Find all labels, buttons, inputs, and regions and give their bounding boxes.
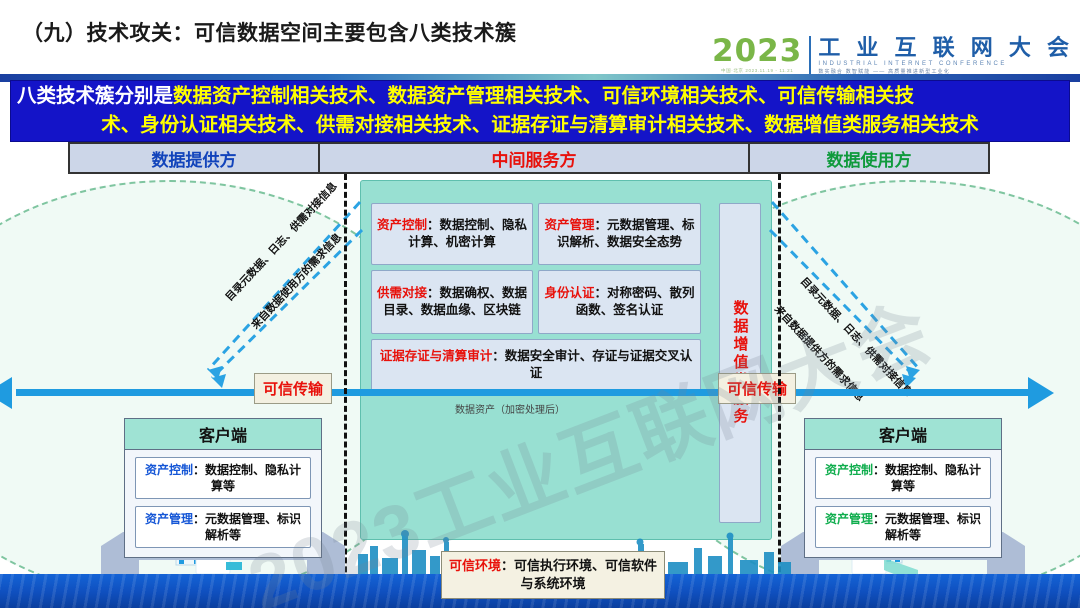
card-evidence-audit: 证据存证与清算审计：数据安全审计、存证与证据交叉认证: [371, 339, 701, 391]
role-intermediary-service: 中间服务方: [320, 144, 750, 172]
tech-cluster-cards: 资产控制：数据控制、隐私计算、机密计算 资产管理：元数据管理、标识解析、数据安全…: [371, 203, 701, 396]
trusted-environment-sep: ：: [501, 558, 514, 573]
intermediary-panel: 资产控制：数据控制、隐私计算、机密计算 资产管理：元数据管理、标识解析、数据安全…: [360, 180, 772, 540]
logo-year: 2023: [712, 36, 802, 66]
trusted-transmission-arrow-line: [16, 389, 1038, 396]
consumer-client-asset-management-value: 元数据管理、标识解析等: [885, 512, 981, 542]
card-asset-control-sep: ：: [427, 218, 440, 232]
banner-highlight-1: 数据资产控制相关技术、数据资产管理相关技术、可信环境相关技术、可信传输相关技: [173, 85, 914, 107]
roles-header: 数据提供方 中间服务方 数据使用方: [68, 142, 990, 174]
card-asset-control-key: 资产控制: [377, 218, 427, 232]
trusted-transmission-label-left: 可信传输: [254, 373, 332, 404]
provider-client-asset-control: 资产控制：数据控制、隐私计算等: [135, 457, 311, 499]
card-asset-management-sep: ：: [594, 218, 607, 232]
banner-highlight-2: 术、身份认证相关技术、供需对接相关技术、证据存证与清算审计相关技术、数据增值类服…: [101, 114, 979, 136]
provider-client-asset-management-key: 资产管理: [145, 512, 193, 526]
card-identity-auth: 身份认证：对称密码、散列函数、签名认证: [538, 270, 701, 334]
consumer-client-asset-control-value: 数据控制、隐私计算等: [885, 463, 981, 493]
trusted-transmission-arrow-head-right: [1028, 377, 1054, 409]
consumer-client-asset-control: 资产控制：数据控制、隐私计算等: [815, 457, 991, 499]
provider-client-asset-control-value: 数据控制、隐私计算等: [205, 463, 301, 493]
card-identity-auth-sep: ：: [594, 286, 607, 300]
card-evidence-audit-sep: ：: [492, 349, 505, 363]
trusted-environment-key: 可信环境: [449, 558, 501, 573]
trusted-transmission-arrow-head-left: [0, 377, 12, 409]
diagram-canvas: 资产控制：数据控制、隐私计算、机密计算 资产管理：元数据管理、标识解析、数据安全…: [0, 174, 1080, 608]
summary-banner: 八类技术簇分别是数据资产控制相关技术、数据资产管理相关技术、可信环境相关技术、可…: [10, 80, 1070, 142]
trusted-environment-box: 可信环境：可信执行环境、可信软件与系统环境: [441, 551, 665, 599]
consumer-client-asset-management: 资产管理：元数据管理、标识解析等: [815, 506, 991, 548]
role-data-provider: 数据提供方: [70, 144, 320, 172]
provider-client-asset-management: 资产管理：元数据管理、标识解析等: [135, 506, 311, 548]
data-asset-note: 数据资产（加密处理后）: [455, 401, 565, 416]
logo-name-en: INDUSTRIAL INTERNET CONFERENCE: [818, 60, 1074, 69]
banner-prefix: 八类技术簇分别是: [17, 85, 173, 107]
consumer-client-box: 客户端 资产控制：数据控制、隐私计算等 资产管理：元数据管理、标识解析等: [804, 418, 1002, 558]
consumer-client-asset-control-key: 资产控制: [825, 463, 873, 477]
logo-name-cn: 工 业 互 联 网 大 会: [818, 36, 1074, 60]
card-supply-demand-key: 供需对接: [377, 286, 427, 300]
provider-client-header: 客户端: [125, 419, 321, 450]
trusted-transmission-label-right: 可信传输: [718, 373, 796, 404]
provider-client-asset-control-sep: ：: [193, 463, 205, 477]
provider-client-asset-control-key: 资产控制: [145, 463, 193, 477]
provider-client-asset-management-sep: ：: [193, 512, 205, 526]
consumer-client-asset-control-sep: ：: [873, 463, 885, 477]
card-evidence-audit-value: 数据安全审计、存证与证据交叉认证: [505, 349, 693, 380]
value-added-services-label: 数据增值类服务: [730, 300, 751, 426]
card-asset-management-key: 资产管理: [544, 218, 594, 232]
banner-line-1: 八类技术簇分别是数据资产控制相关技术、数据资产管理相关技术、可信环境相关技术、可…: [17, 82, 1063, 111]
card-supply-demand-sep: ：: [427, 286, 440, 300]
logo-divider: [809, 36, 811, 76]
consumer-client-header: 客户端: [805, 419, 1001, 450]
trusted-environment-value: 可信执行环境、可信软件与系统环境: [514, 558, 657, 591]
banner-line-2: 术、身份认证相关技术、供需对接相关技术、证据存证与清算审计相关技术、数据增值类服…: [17, 111, 1063, 140]
consumer-client-asset-management-key: 资产管理: [825, 512, 873, 526]
card-asset-control: 资产控制：数据控制、隐私计算、机密计算: [371, 203, 533, 265]
value-added-services-bar: 数据增值类服务: [719, 203, 761, 523]
role-data-consumer: 数据使用方: [750, 144, 988, 172]
card-identity-auth-key: 身份认证: [544, 286, 594, 300]
card-supply-demand: 供需对接：数据确权、数据目录、数据血缘、区块链: [371, 270, 533, 334]
card-evidence-audit-key: 证据存证与清算审计: [380, 349, 493, 363]
consumer-client-asset-management-sep: ：: [873, 512, 885, 526]
page-title: （九）技术攻关：可信数据空间主要包含八类技术簇: [22, 17, 517, 47]
provider-client-box: 客户端 资产控制：数据控制、隐私计算等 资产管理：元数据管理、标识解析等: [124, 418, 322, 558]
slide-root: （九）技术攻关：可信数据空间主要包含八类技术簇 2023 中国·北京 2023.…: [0, 0, 1080, 608]
card-asset-management: 资产管理：元数据管理、标识解析、数据安全态势: [538, 203, 701, 265]
provider-client-asset-management-value: 元数据管理、标识解析等: [205, 512, 301, 542]
